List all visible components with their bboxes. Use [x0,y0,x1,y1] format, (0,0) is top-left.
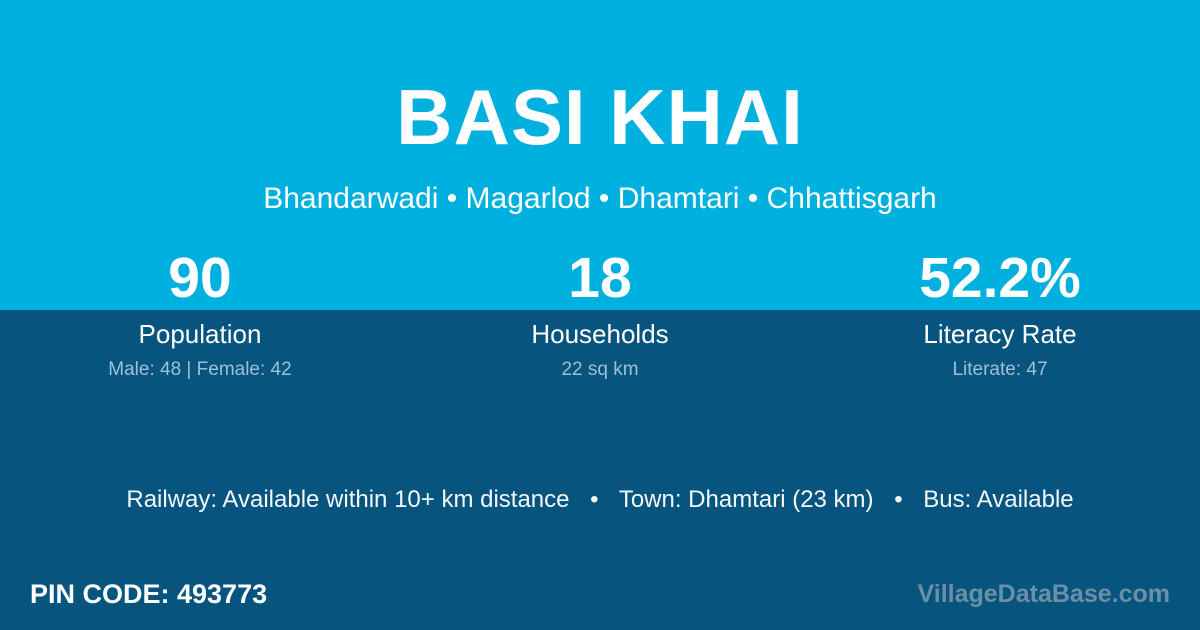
stat-value: 52.2% [800,246,1200,310]
page-title: BASI KHAI [0,78,1200,156]
connectivity-info-line: Railway: Available within 10+ km distanc… [0,485,1200,515]
stat-label: Households [400,319,800,349]
footer-bar: PIN CODE: 493773 VillageDataBase.com [0,558,1200,630]
stat-households: 18 Households 22 sq km [400,246,800,381]
stat-sublabel: Literate: 47 [800,359,1200,381]
village-info-card: BASI KHAI Bhandarwadi • Magarlod • Dhamt… [0,0,1200,630]
stat-value: 18 [400,246,800,310]
stat-sublabel: Male: 48 | Female: 42 [0,359,400,381]
stats-row: 90 Population Male: 48 | Female: 42 18 H… [0,246,1200,381]
brand-watermark: VillageDataBase.com [918,582,1170,607]
town-info: Town: Dhamtari (23 km) [619,486,874,513]
breadcrumb: Bhandarwadi • Magarlod • Dhamtari • Chha… [0,182,1200,215]
pin-code: PIN CODE: 493773 [30,581,267,608]
stat-label: Literacy Rate [800,319,1200,349]
bullet-separator-icon: • [880,485,916,515]
bullet-separator-icon: • [576,485,612,515]
railway-info: Railway: Available within 10+ km distanc… [126,486,569,513]
stat-label: Population [0,319,400,349]
stat-value: 90 [0,246,400,310]
stat-sublabel: 22 sq km [400,359,800,381]
stat-population: 90 Population Male: 48 | Female: 42 [0,246,400,381]
stat-literacy-rate: 52.2% Literacy Rate Literate: 47 [800,246,1200,381]
bus-info: Bus: Available [923,486,1073,513]
